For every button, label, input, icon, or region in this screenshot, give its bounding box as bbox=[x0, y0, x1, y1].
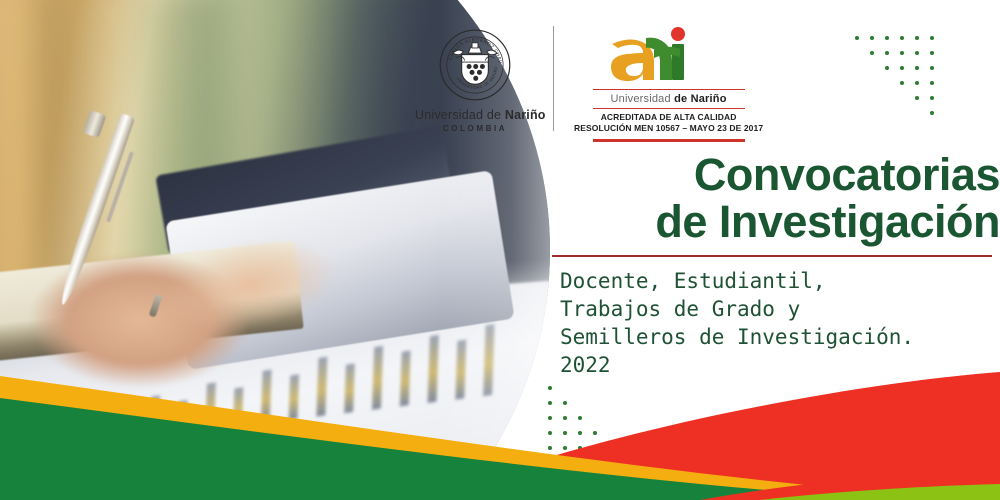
subtitle-line-3: Semilleros de Investigación. bbox=[560, 324, 1000, 352]
page-title-line-1: Convocatorias bbox=[548, 152, 1000, 199]
decorative-dot bbox=[885, 66, 889, 70]
decorative-dot bbox=[885, 36, 889, 40]
ai-accreditation-icon bbox=[594, 24, 744, 86]
university-name-light: Universidad de bbox=[415, 108, 505, 122]
subtitle-line-2: Trabajos de Grado y bbox=[560, 296, 1000, 324]
logo-bar: CARLOS ALBORNOZ CHAVES ACADEMIA UNIVERSI… bbox=[415, 22, 763, 142]
decorative-dot bbox=[870, 51, 874, 55]
decorative-dot bbox=[930, 36, 934, 40]
university-logo: CARLOS ALBORNOZ CHAVES ACADEMIA UNIVERSI… bbox=[415, 22, 535, 133]
logo-divider bbox=[553, 26, 554, 131]
bottom-wave-decoration bbox=[0, 350, 1000, 500]
decorative-dot bbox=[900, 66, 904, 70]
subtitle-line-1: Docente, Estudiantil, bbox=[560, 268, 1000, 296]
accreditation-rule-top bbox=[593, 89, 745, 90]
decorative-dot bbox=[915, 81, 919, 85]
accreditation-line-1: ACREDITADA DE ALTA CALIDAD bbox=[574, 112, 763, 123]
decorative-dot bbox=[930, 81, 934, 85]
decorative-dot bbox=[915, 66, 919, 70]
decorative-dot bbox=[900, 51, 904, 55]
accreditation-name-bold: de Nariño bbox=[674, 93, 727, 105]
university-country: COLOMBIA bbox=[415, 124, 535, 133]
decorative-dot bbox=[855, 36, 859, 40]
decorative-dot bbox=[930, 96, 934, 100]
decorative-dot bbox=[915, 51, 919, 55]
accreditation-logo: Universidad de Nariño ACREDITADA DE ALTA… bbox=[574, 22, 763, 142]
promotional-banner: CARLOS ALBORNOZ CHAVES ACADEMIA UNIVERSI… bbox=[0, 0, 1000, 500]
dot-grid-top-right bbox=[855, 36, 995, 126]
decorative-dot bbox=[900, 36, 904, 40]
decorative-dot bbox=[870, 36, 874, 40]
page-title: Convocatorias de Investigación bbox=[548, 152, 1000, 246]
decorative-dot bbox=[915, 36, 919, 40]
page-title-line-2: de Investigación bbox=[548, 199, 1000, 246]
accreditation-university-name: Universidad de Nariño bbox=[574, 93, 763, 105]
accreditation-line-2: RESOLUCIÓN MEN 10567 – MAYO 23 DE 2017 bbox=[574, 123, 763, 134]
decorative-dot bbox=[915, 96, 919, 100]
decorative-dot bbox=[885, 51, 889, 55]
decorative-dot bbox=[930, 66, 934, 70]
title-underline bbox=[552, 255, 992, 257]
accreditation-red-bar bbox=[593, 139, 745, 142]
university-seal-icon: CARLOS ALBORNOZ CHAVES ACADEMIA UNIVERSI… bbox=[438, 28, 512, 102]
decorative-dot bbox=[930, 111, 934, 115]
accreditation-rule-bottom bbox=[593, 108, 745, 109]
university-name: Universidad de Nariño bbox=[415, 108, 535, 122]
decorative-dot bbox=[900, 81, 904, 85]
accreditation-name-light: Universidad bbox=[611, 93, 675, 105]
decorative-dot bbox=[930, 51, 934, 55]
university-name-bold: Nariño bbox=[505, 108, 546, 122]
